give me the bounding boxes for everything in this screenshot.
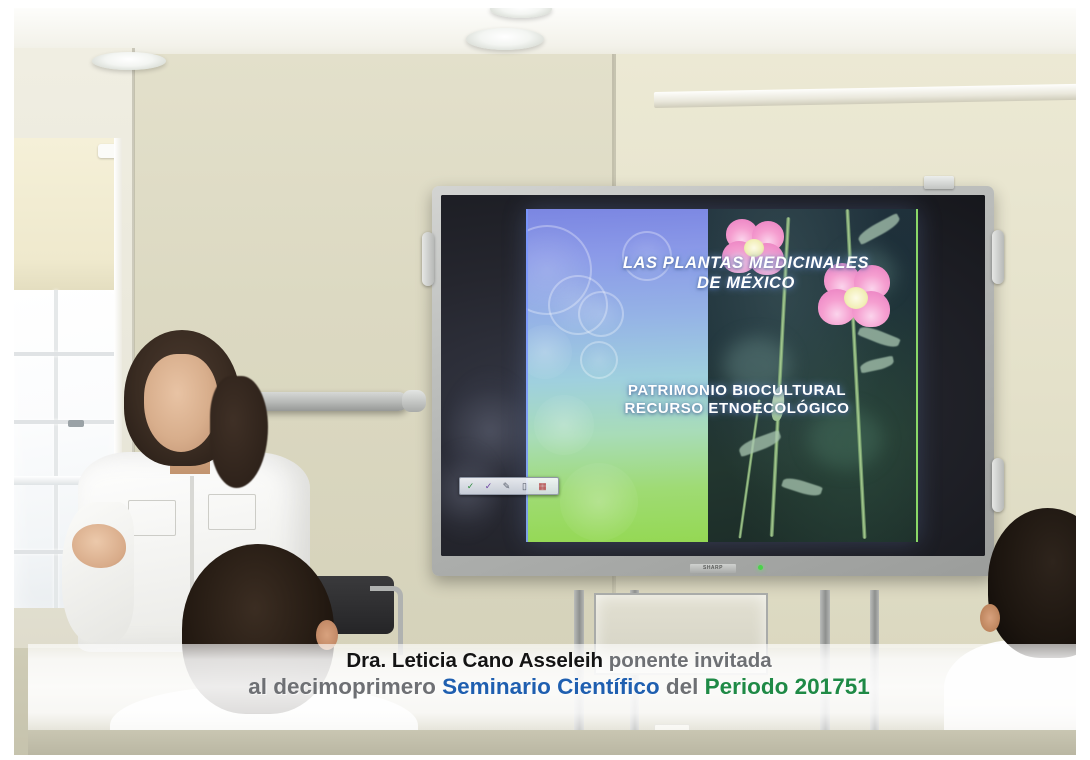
pen-green-icon[interactable]: ✓ — [463, 480, 478, 492]
presenter-face — [144, 354, 218, 452]
poster-frame: LAS PLANTAS MEDICINALES DE MÉXICO PATRIM… — [0, 0, 1090, 760]
display-screen[interactable]: LAS PLANTAS MEDICINALES DE MÉXICO PATRIM… — [441, 195, 985, 556]
caption-line-2-prefix: al decimoprimero — [248, 674, 442, 699]
photo-bottom-strip — [28, 730, 1076, 755]
window-mullion-horizontal-1 — [14, 352, 122, 356]
projected-slide: LAS PLANTAS MEDICINALES DE MÉXICO PATRIM… — [526, 209, 918, 542]
window-latch — [68, 420, 84, 427]
presenter-blouse-pocket-right — [208, 494, 256, 530]
display-power-led — [758, 565, 763, 570]
slide-title: LAS PLANTAS MEDICINALES DE MÉXICO — [596, 253, 896, 293]
flower-leaf-5 — [859, 356, 895, 374]
flower-leaf-4 — [781, 475, 823, 499]
caption-line-1-suffix: ponente invitada — [603, 649, 772, 672]
flower-leaf-1 — [856, 213, 902, 245]
ink-annotation-toolbar[interactable]: ✓ ✓ ✎ ▯ ▦ — [459, 477, 559, 495]
display-handle-right-lower[interactable] — [992, 458, 1004, 512]
presenter-arm — [62, 502, 134, 642]
audience-right-ear — [980, 604, 1000, 632]
display-brand-label: SHARP — [690, 564, 736, 573]
seminar-name: Seminario Científico — [442, 674, 660, 699]
event-photograph: LAS PLANTAS MEDICINALES DE MÉXICO PATRIM… — [14, 8, 1076, 755]
window-mullion-vertical — [54, 290, 58, 608]
pen-purple-icon[interactable]: ✓ — [481, 480, 496, 492]
window-blind — [14, 138, 122, 293]
presenter-name: Dra. Leticia Cano Asseleih — [346, 649, 603, 672]
flower-stem-3 — [738, 399, 760, 538]
slide-bokeh-4 — [578, 291, 624, 337]
display-handle-right[interactable] — [992, 230, 1004, 284]
caption-text-block: Dra. Leticia Cano Asseleih ponente invit… — [28, 648, 1076, 700]
stamp-icon[interactable]: ▦ — [535, 480, 550, 492]
slide-bokeh-5 — [580, 341, 618, 379]
caption-line-1: Dra. Leticia Cano Asseleih ponente invit… — [28, 648, 1076, 673]
slide-subtitle: PATRIMONIO BIOCULTURAL RECURSO ETNOECOLÓ… — [572, 382, 902, 419]
display-pen-tray-end-cap — [402, 390, 426, 412]
period-label: Periodo 201751 — [705, 674, 870, 699]
presenter-blouse-pocket-left — [128, 500, 176, 536]
display-top-sensor — [924, 176, 954, 189]
caption-line-2: al decimoprimero Seminario Científico de… — [28, 673, 1076, 700]
ceiling-light-2 — [466, 28, 544, 50]
display-handle-left[interactable] — [422, 232, 434, 286]
caption-line-2-middle: del — [660, 674, 705, 699]
eraser-icon[interactable]: ▯ — [517, 480, 532, 492]
slide-bokeh-8 — [560, 463, 638, 541]
highlighter-icon[interactable]: ✎ — [499, 480, 514, 492]
interactive-whiteboard[interactable]: LAS PLANTAS MEDICINALES DE MÉXICO PATRIM… — [432, 186, 994, 576]
slide-accent-line-right — [916, 209, 918, 542]
caption-banner: Universidad Veracruzana Dra. Leticia Can… — [28, 644, 1076, 730]
ceiling-light-1 — [92, 52, 166, 70]
presenter-hand — [72, 524, 126, 568]
